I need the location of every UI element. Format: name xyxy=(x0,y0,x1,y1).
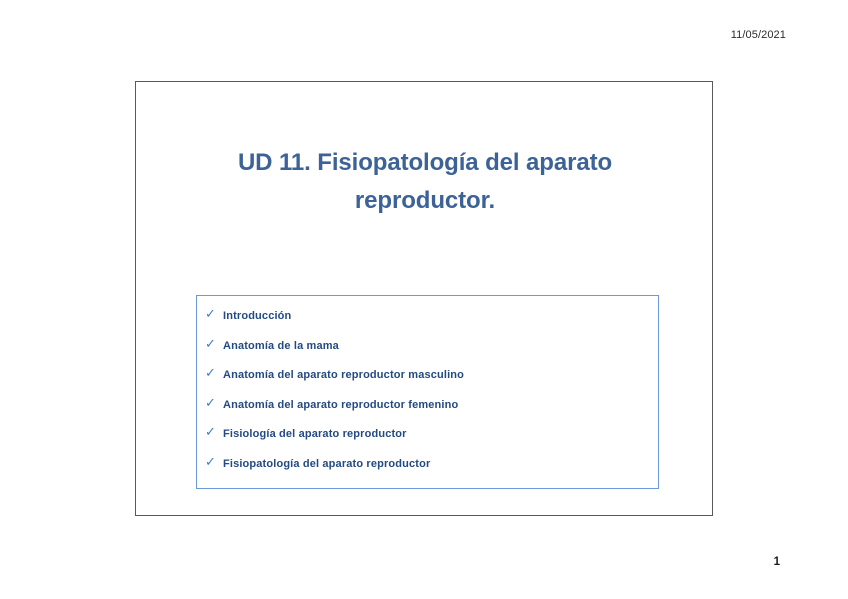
list-item-label: Anatomía del aparato reproductor femenin… xyxy=(223,399,458,411)
slide-title-line-1: UD 11. Fisiopatología del aparato xyxy=(238,149,612,176)
list-item: ✓ Fisiopatología del aparato reproductor xyxy=(205,456,652,486)
check-icon: ✓ xyxy=(205,425,223,438)
slide-title: UD 11. Fisiopatología del aparato reprod… xyxy=(176,144,674,220)
check-icon: ✓ xyxy=(205,366,223,379)
agenda-box: ✓ Introducción ✓ Anatomía de la mama ✓ A… xyxy=(196,295,659,489)
agenda-list: ✓ Introducción ✓ Anatomía de la mama ✓ A… xyxy=(205,308,652,485)
page-date: 11/05/2021 xyxy=(731,29,786,41)
check-icon: ✓ xyxy=(205,307,223,320)
check-icon: ✓ xyxy=(205,337,223,350)
slide-title-line-2: reproductor. xyxy=(355,187,495,214)
list-item: ✓ Fisiología del aparato reproductor xyxy=(205,426,652,456)
list-item-label: Anatomía de la mama xyxy=(223,340,339,352)
list-item-label: Fisiopatología del aparato reproductor xyxy=(223,458,430,470)
list-item: ✓ Introducción xyxy=(205,308,652,338)
slide-frame: UD 11. Fisiopatología del aparato reprod… xyxy=(135,81,713,516)
list-item-label: Fisiología del aparato reproductor xyxy=(223,428,407,440)
check-icon: ✓ xyxy=(205,396,223,409)
list-item: ✓ Anatomía del aparato reproductor mascu… xyxy=(205,367,652,397)
list-item-label: Introducción xyxy=(223,310,291,322)
page-number: 1 xyxy=(774,556,780,568)
check-icon: ✓ xyxy=(205,455,223,468)
list-item: ✓ Anatomía de la mama xyxy=(205,338,652,368)
list-item-label: Anatomía del aparato reproductor masculi… xyxy=(223,369,464,381)
list-item: ✓ Anatomía del aparato reproductor femen… xyxy=(205,397,652,427)
